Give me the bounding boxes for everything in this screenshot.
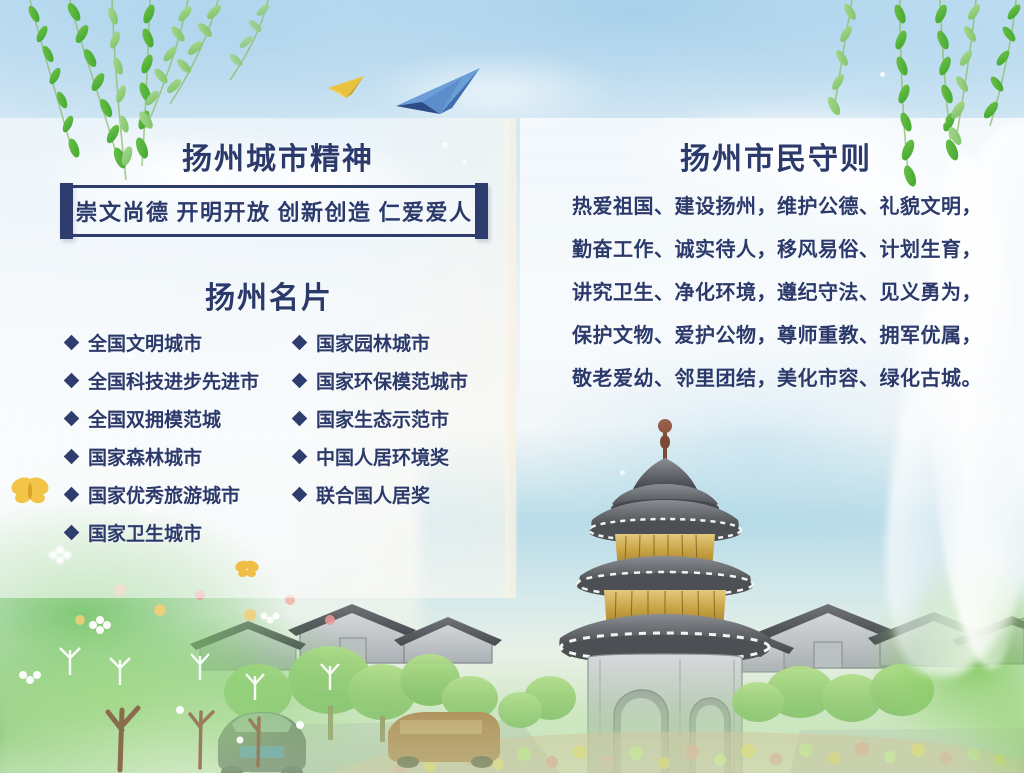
rules-line: 敬老爱幼、邻里团结，美化市容、绿化古城。 — [572, 358, 984, 401]
list-item: 国家森林城市 — [66, 437, 278, 475]
city-cards-column-right: 国家园林城市 国家环保模范城市 国家生态示范市 中国人居环境奖 联合国人居奖 — [294, 323, 504, 551]
rules-line: 讲究卫生、净化环境，遵纪守法、见义勇为， — [572, 272, 984, 315]
city-spirit-banner: 崇文尚德 开明开放 创新创造 仁爱爱人 — [60, 183, 488, 239]
city-cards-title: 扬州名片 — [205, 273, 333, 317]
list-item: 全国科技进步先进市 — [66, 361, 278, 399]
diamond-bullet-icon — [64, 486, 80, 502]
banner-inner: 崇文尚德 开明开放 创新创造 仁爱爱人 — [73, 189, 475, 233]
list-item-label: 国家园林城市 — [316, 329, 430, 356]
list-item: 国家环保模范城市 — [294, 361, 504, 399]
list-item: 全国双拥模范城 — [66, 399, 278, 437]
list-item-label: 全国科技进步先进市 — [88, 367, 259, 394]
diamond-bullet-icon — [64, 372, 80, 388]
list-item-label: 全国文明城市 — [88, 329, 202, 356]
list-item: 国家生态示范市 — [294, 399, 504, 437]
diamond-bullet-icon — [292, 372, 308, 388]
diamond-bullet-icon — [292, 334, 308, 350]
banner-rule-top — [67, 185, 481, 188]
city-spirit-title: 扬州城市精神 — [182, 134, 374, 178]
city-spirit-motto: 崇文尚德 开明开放 创新创造 仁爱爱人 — [75, 195, 472, 227]
banner-bar-right — [475, 183, 488, 239]
city-cards-column-left: 全国文明城市 全国科技进步先进市 全国双拥模范城 国家森林城市 国家优秀旅游城市 — [66, 323, 278, 551]
diamond-bullet-icon — [64, 410, 80, 426]
diamond-bullet-icon — [292, 448, 308, 464]
list-item-label: 国家生态示范市 — [316, 405, 449, 432]
diamond-bullet-icon — [292, 486, 308, 502]
rules-line: 热爱祖国、建设扬州，维护公德、礼貌文明， — [572, 186, 984, 229]
list-item: 国家优秀旅游城市 — [66, 475, 278, 513]
poster-content: 扬州城市精神 崇文尚德 开明开放 创新创造 仁爱爱人 扬州名片 全国文明城市 — [0, 0, 1024, 773]
banner-bar-left — [60, 183, 73, 239]
citizen-rules-text: 热爱祖国、建设扬州，维护公德、礼貌文明， 勤奋工作、诚实待人，移风易俗、计划生育… — [572, 186, 984, 401]
list-item: 联合国人居奖 — [294, 475, 504, 513]
poster-canvas: 扬州城市精神 崇文尚德 开明开放 创新创造 仁爱爱人 扬州名片 全国文明城市 — [0, 0, 1024, 773]
list-item-label: 国家环保模范城市 — [316, 367, 468, 394]
diamond-bullet-icon — [64, 334, 80, 350]
list-item-label: 国家卫生城市 — [88, 519, 202, 546]
list-item-label: 国家森林城市 — [88, 443, 202, 470]
diamond-bullet-icon — [64, 448, 80, 464]
list-item: 全国文明城市 — [66, 323, 278, 361]
list-item: 国家园林城市 — [294, 323, 504, 361]
banner-rule-bottom — [67, 234, 481, 237]
list-item-label: 中国人居环境奖 — [316, 443, 449, 470]
list-item-label: 国家优秀旅游城市 — [88, 481, 240, 508]
diamond-bullet-icon — [64, 524, 80, 540]
list-item-label: 联合国人居奖 — [316, 481, 430, 508]
rules-line: 勤奋工作、诚实待人，移风易俗、计划生育， — [572, 229, 984, 272]
citizen-rules-title: 扬州市民守则 — [680, 134, 872, 178]
list-item: 国家卫生城市 — [66, 513, 278, 551]
city-cards-list: 全国文明城市 全国科技进步先进市 全国双拥模范城 国家森林城市 国家优秀旅游城市 — [66, 323, 516, 551]
list-item: 中国人居环境奖 — [294, 437, 504, 475]
list-item-label: 全国双拥模范城 — [88, 405, 221, 432]
diamond-bullet-icon — [292, 410, 308, 426]
rules-line: 保护文物、爱护公物，尊师重教、拥军优属， — [572, 315, 984, 358]
